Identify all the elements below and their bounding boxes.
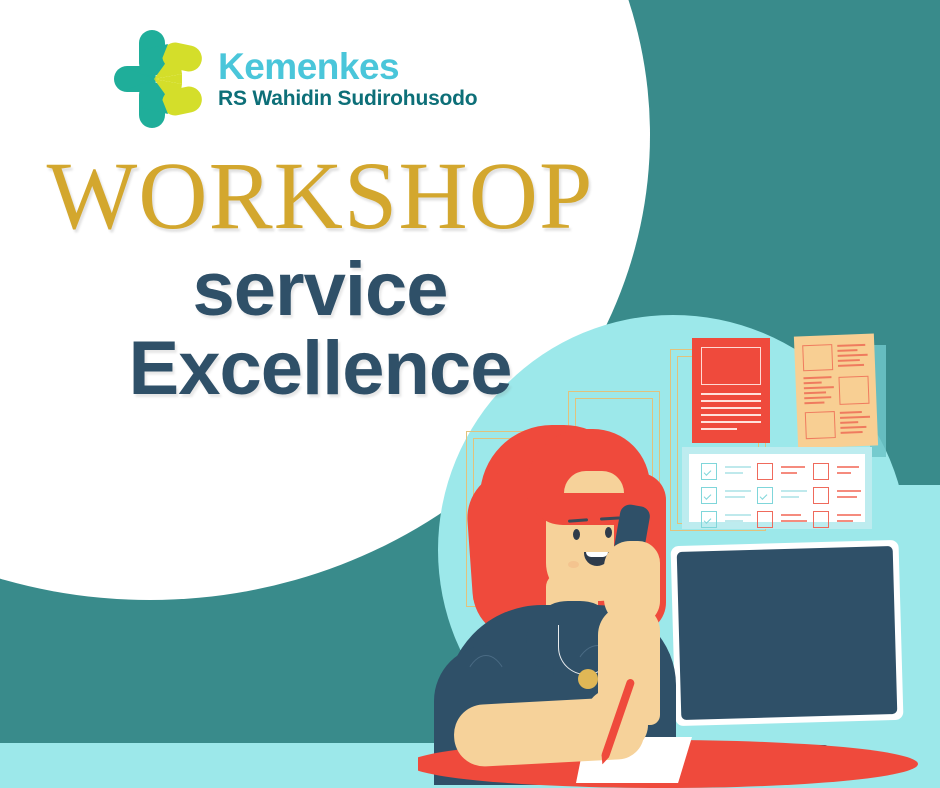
checkbox-empty (813, 511, 829, 528)
checkbox-empty (813, 463, 829, 480)
logo-text-block: Kemenkes RS Wahidin Sudirohusodo (218, 48, 477, 109)
checkbox-empty (757, 463, 773, 480)
checkbox-checked (701, 511, 717, 528)
woman-pendant (578, 669, 598, 689)
checkbox-empty (757, 511, 773, 528)
wall-poster-red (692, 338, 770, 443)
checkbox-checked (701, 463, 717, 480)
logo-title: Kemenkes (218, 48, 477, 85)
kemenkes-flower-logo-icon (112, 28, 204, 128)
poster-canvas: Kemenkes RS Wahidin Sudirohusodo WORKSHO… (0, 0, 940, 788)
logo-subtitle: RS Wahidin Sudirohusodo (218, 88, 477, 109)
headline-excellence: Excellence (0, 329, 640, 408)
headline-block: WORKSHOP service Excellence (0, 148, 640, 408)
wall-poster-tan (794, 334, 878, 449)
headline-workshop: WORKSHOP (0, 148, 640, 244)
checkbox-checked (757, 487, 773, 504)
monitor (671, 540, 904, 726)
checkbox-checked (701, 487, 717, 504)
woman-eye-right (605, 527, 612, 538)
woman-cheek (568, 561, 579, 568)
monitor-screen (677, 546, 898, 720)
woman-teeth (586, 552, 608, 557)
woman-eye-left (573, 529, 580, 540)
checklist-sheet (689, 454, 865, 522)
kemenkes-logo: Kemenkes RS Wahidin Sudirohusodo (112, 28, 477, 128)
woman-bangs (564, 471, 624, 493)
checkbox-empty (813, 487, 829, 504)
poster-red-image (701, 347, 761, 385)
headline-service: service (0, 250, 640, 329)
checklist-board (682, 447, 872, 529)
woman-hand-phone (604, 541, 660, 625)
